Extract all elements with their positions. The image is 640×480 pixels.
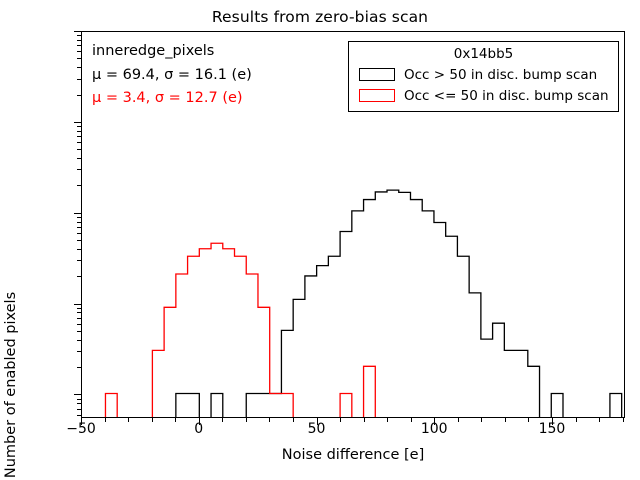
y-tick-minor xyxy=(77,340,81,341)
y-tick-minor xyxy=(77,131,81,132)
y-tick-minor xyxy=(77,149,81,150)
histogram-step-black xyxy=(246,190,539,417)
y-tick-minor xyxy=(77,142,81,143)
y-tick-minor xyxy=(77,95,81,96)
x-tick-minor xyxy=(411,418,412,422)
y-tick-minor xyxy=(77,260,81,261)
annotation-black-stats: μ = 69.4, σ = 16.1 (e) xyxy=(92,64,252,88)
x-tick-minor xyxy=(623,418,624,422)
legend-label-black: Occ > 50 in disc. bump scan xyxy=(404,67,597,83)
x-tick-minor xyxy=(481,418,482,422)
x-tick-minor xyxy=(152,418,153,422)
y-tick-minor xyxy=(77,158,81,159)
page-title: Results from zero-bias scan xyxy=(0,8,640,26)
histogram-step-red xyxy=(105,394,117,417)
x-tick-minor xyxy=(599,418,600,422)
y-tick-minor xyxy=(77,240,81,241)
histogram-step-red xyxy=(152,243,293,417)
y-axis-label: Number of enabled pixels xyxy=(3,290,19,480)
x-tick-label: 50 xyxy=(286,421,346,437)
y-tick-major xyxy=(74,304,81,305)
y-tick-minor xyxy=(77,367,81,368)
annotation-dataset-name: inneredge_pixels xyxy=(92,40,252,64)
x-tick-minor xyxy=(293,418,294,422)
legend-label-red: Occ <= 50 in disc. bump scan xyxy=(404,88,609,104)
y-tick-minor xyxy=(77,217,81,218)
x-tick-label: 150 xyxy=(522,421,582,437)
y-tick-minor xyxy=(77,331,81,332)
stats-annotation: inneredge_pixels μ = 69.4, σ = 16.1 (e) … xyxy=(92,40,252,111)
y-tick-minor xyxy=(77,409,81,410)
y-tick-minor xyxy=(77,249,81,250)
y-tick-minor xyxy=(77,79,81,80)
x-tick-minor xyxy=(576,418,577,422)
histogram-step-black xyxy=(610,394,622,417)
y-tick-minor xyxy=(77,403,81,404)
legend-title: 0x14bb5 xyxy=(355,46,612,62)
legend-swatch-red-icon xyxy=(359,89,395,102)
y-tick-minor xyxy=(77,185,81,186)
y-tick-minor xyxy=(77,58,81,59)
x-tick-minor xyxy=(505,418,506,422)
x-axis-label: Noise difference [e] xyxy=(81,447,625,463)
y-tick-major xyxy=(74,213,81,214)
x-tick-minor xyxy=(458,418,459,422)
y-tick-minor xyxy=(77,45,81,46)
histogram-step-red xyxy=(364,366,376,417)
y-tick-minor xyxy=(77,51,81,52)
y-tick-minor xyxy=(77,169,81,170)
x-tick-minor xyxy=(105,418,106,422)
legend-item-red[interactable]: Occ <= 50 in disc. bump scan xyxy=(355,85,612,106)
histogram-step-black xyxy=(211,394,223,417)
y-tick-minor xyxy=(77,415,81,416)
x-tick-minor xyxy=(246,418,247,422)
x-tick-minor xyxy=(387,418,388,422)
histogram-step-red xyxy=(340,394,352,417)
x-tick-label: −50 xyxy=(51,421,111,437)
y-tick-minor xyxy=(77,67,81,68)
y-tick-minor xyxy=(77,233,81,234)
x-tick-minor xyxy=(175,418,176,422)
y-tick-minor xyxy=(77,351,81,352)
y-tick-major xyxy=(74,122,81,123)
y-tick-minor xyxy=(77,324,81,325)
y-tick-minor xyxy=(77,312,81,313)
x-tick-label: 0 xyxy=(169,421,229,437)
x-tick-minor xyxy=(528,418,529,422)
legend-swatch-black-icon xyxy=(359,68,395,81)
x-tick-minor xyxy=(128,418,129,422)
x-tick-minor xyxy=(364,418,365,422)
x-tick-minor xyxy=(269,418,270,422)
y-tick-minor xyxy=(77,227,81,228)
y-tick-minor xyxy=(77,35,81,36)
x-tick-minor xyxy=(340,418,341,422)
y-tick-major xyxy=(74,31,81,32)
y-tick-minor xyxy=(77,318,81,319)
x-tick-minor xyxy=(222,418,223,422)
x-tick-label: 100 xyxy=(404,421,464,437)
histogram-step-black xyxy=(551,394,563,417)
legend-item-black[interactable]: Occ > 50 in disc. bump scan xyxy=(355,64,612,85)
y-tick-minor xyxy=(77,276,81,277)
y-tick-major xyxy=(74,394,81,395)
histogram-step-black xyxy=(176,394,199,417)
y-tick-minor xyxy=(77,308,81,309)
y-tick-minor xyxy=(77,126,81,127)
legend-box: 0x14bb5 Occ > 50 in disc. bump scan Occ … xyxy=(348,41,619,112)
y-tick-minor xyxy=(77,40,81,41)
y-tick-minor xyxy=(77,222,81,223)
figure-root: Results from zero-bias scan Number of en… xyxy=(0,0,640,480)
y-tick-minor xyxy=(77,399,81,400)
annotation-red-stats: μ = 3.4, σ = 12.7 (e) xyxy=(92,87,252,111)
y-tick-minor xyxy=(77,136,81,137)
